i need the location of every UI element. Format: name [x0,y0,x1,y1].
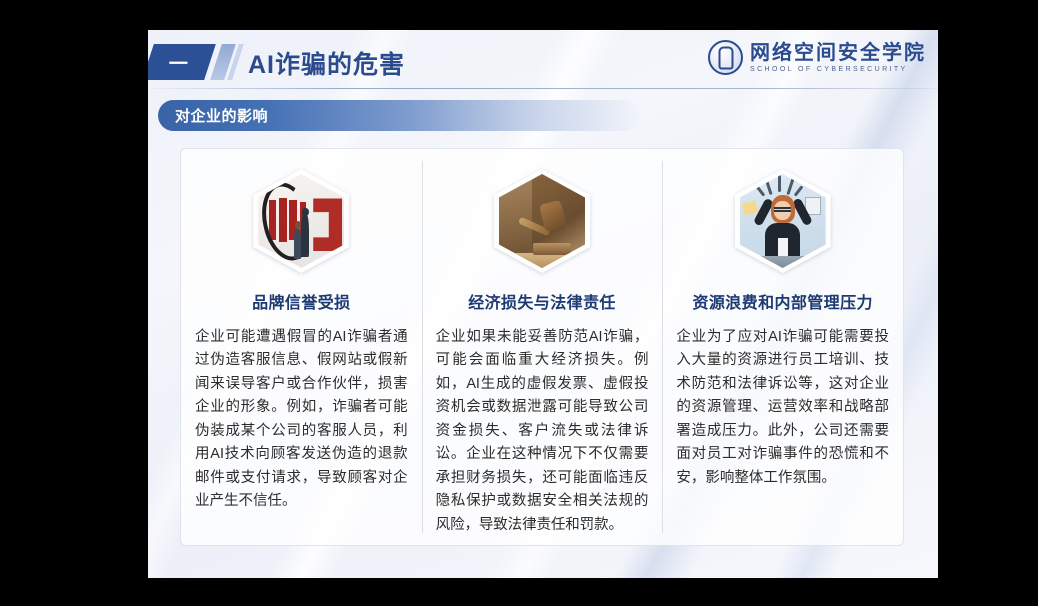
page-title: AI诈骗的危害 [248,45,405,81]
logo-english-name: SCHOOL OF CYBERSECURITY [750,66,926,73]
stressed-employee-photo-icon [735,169,831,273]
logo-text: 网络空间安全学院 SCHOOL OF CYBERSECURITY [750,43,926,73]
logo-chinese-name: 网络空间安全学院 [750,43,926,64]
section-number-badge: 一 [148,44,216,80]
presentation-slide: 一 AI诈骗的危害 网络空间安全学院 SCHOOL OF CYBERSECURI… [148,30,938,578]
header-divider [148,88,938,89]
column-body-1: 企业可能遭遇假冒的AI诈骗者通过伪造客服信息、假网站或假新闻来误导客户或合作伙伴… [195,326,408,514]
subtitle-banner: 对企业的影响 [158,100,640,131]
school-logo: 网络空间安全学院 SCHOOL OF CYBERSECURITY [708,40,926,75]
column-heading-1: 品牌信誉受损 [252,289,350,313]
brand-reputation-photo-icon [253,169,349,273]
column-heading-2: 经济损失与法律责任 [468,289,616,313]
subtitle-label: 对企业的影响 [175,105,268,126]
video-letterbox-frame: 一 AI诈骗的危害 网络空间安全学院 SCHOOL OF CYBERSECURI… [0,0,1038,606]
column-body-2: 企业如果未能妥善防范AI诈骗，可能会面临重大经济损失。例如，AI生成的虚假发票、… [436,326,649,537]
content-column-1: 品牌信誉受损 企业可能遭遇假冒的AI诈骗者通过伪造客服信息、假网站或假新闻来误导… [181,149,422,545]
content-card: 品牌信誉受损 企业可能遭遇假冒的AI诈骗者通过伪造客服信息、假网站或假新闻来误导… [180,148,904,546]
column-heading-3: 资源浪费和内部管理压力 [692,289,872,313]
university-crest-icon [708,40,743,75]
section-number-label: 一 [169,49,189,76]
content-column-2: 经济损失与法律责任 企业如果未能妥善防范AI诈骗，可能会面临重大经济损失。例如，… [422,149,663,545]
column-body-3: 企业为了应对AI诈骗可能需要投入大量的资源进行员工培训、技术防范和法律诉讼等，这… [676,326,889,490]
content-column-3: 资源浪费和内部管理压力 企业为了应对AI诈骗可能需要投入大量的资源进行员工培训、… [662,149,903,545]
slide-header: 一 AI诈骗的危害 网络空间安全学院 SCHOOL OF CYBERSECURI… [148,30,938,90]
gavel-law-photo-icon [494,169,590,273]
